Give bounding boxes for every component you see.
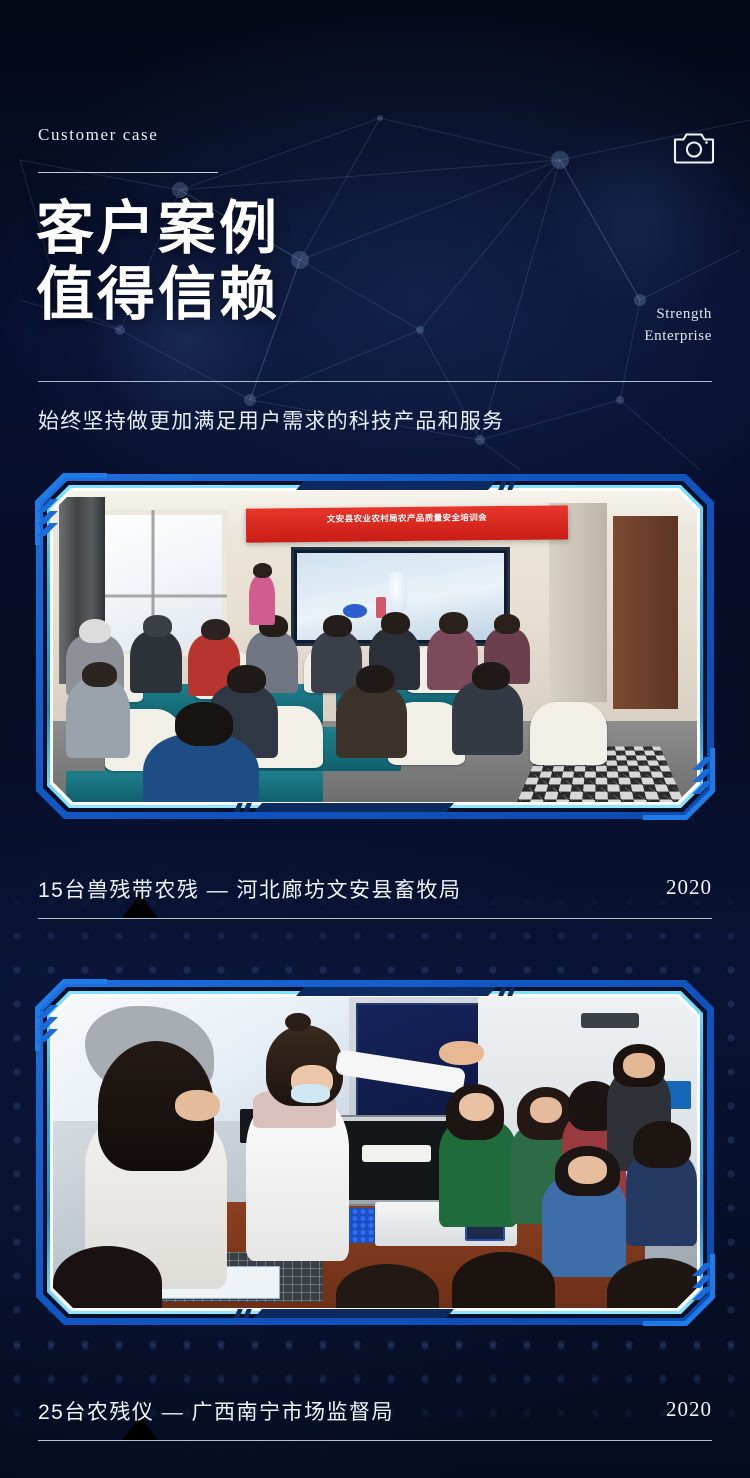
frame-accent-bar-top — [296, 987, 496, 996]
case-caption-1: 15台兽残带农残 — 河北廊坊文安县畜牧局 2020 — [0, 866, 750, 936]
page-title: 客户案例 值得信赖 — [36, 196, 456, 327]
camera-icon — [673, 130, 715, 164]
case-caption-2: 25台农残仪 — 广西南宁市场监督局 2020 — [0, 1388, 750, 1458]
case-photo-1: 文安县农业农村局农产品质量安全培训会 — [53, 491, 697, 802]
case-year-1: 2020 — [666, 875, 712, 900]
page-subtitle: 始终坚持做更加满足用户需求的科技产品和服务 — [38, 405, 504, 435]
page-title-line1: 客户案例 — [36, 196, 280, 261]
case-caption-text-2: 25台农残仪 — 广西南宁市场监督局 — [38, 1396, 394, 1426]
eyebrow-label: Customer case — [38, 125, 158, 145]
customer-case-page: Customer case 客户案例 值得信赖 Strength Enterpr… — [0, 0, 750, 1478]
photo-banner-1: 文安县农业农村局农产品质量安全培训会 — [246, 505, 568, 543]
case-item-2 — [0, 980, 750, 1325]
case-photo-2 — [53, 997, 697, 1308]
page-title-line2: 值得信赖 — [36, 262, 456, 328]
eyebrow-divider — [38, 172, 218, 173]
strength-line1: Strength — [656, 306, 712, 322]
photo-frame-1[interactable]: 文安县农业农村局农产品质量安全培训会 — [36, 474, 714, 819]
photo-frame-2[interactable] — [36, 980, 714, 1325]
case-item-1: 文安县农业农村局农产品质量安全培训会 — [0, 474, 750, 819]
case-year-2: 2020 — [666, 1397, 712, 1422]
caption-divider-2 — [38, 1440, 712, 1441]
subtitle-divider — [38, 381, 712, 382]
frame-accent-bar-bottom — [254, 803, 454, 812]
caption-divider-1 — [38, 918, 712, 919]
frame-accent-bar-top — [296, 481, 496, 490]
strength-line2: Enterprise — [644, 328, 712, 344]
strength-enterprise-label: Strength Enterprise — [492, 304, 712, 348]
case-caption-text-1: 15台兽残带农残 — 河北廊坊文安县畜牧局 — [38, 874, 462, 904]
frame-accent-bar-bottom — [254, 1309, 454, 1318]
